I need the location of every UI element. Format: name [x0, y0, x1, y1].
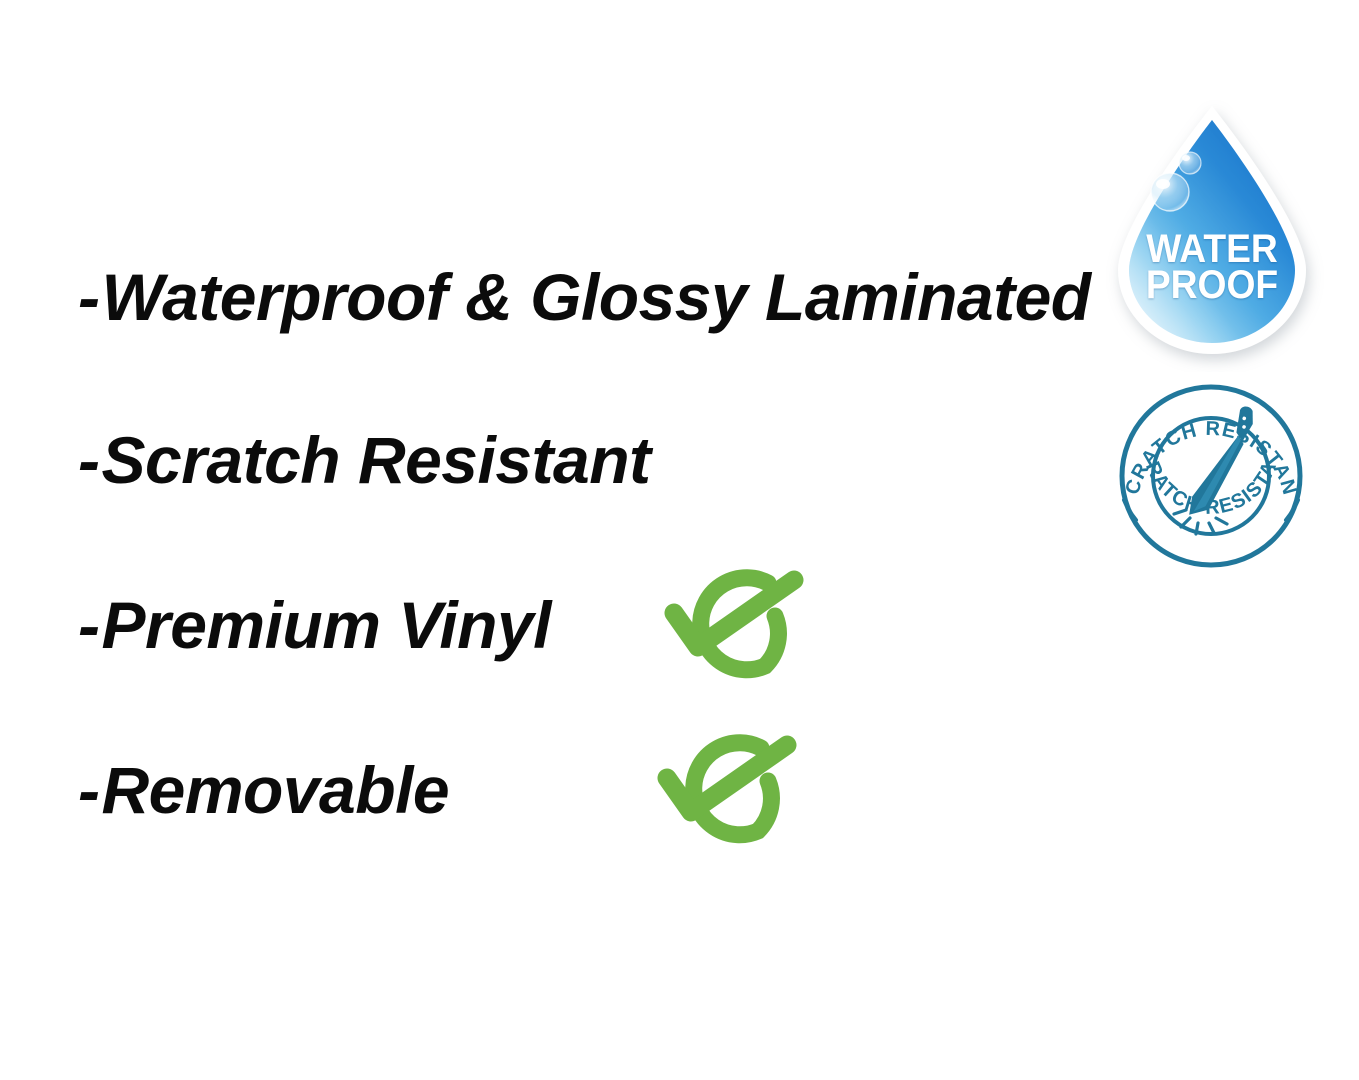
bullet-dash: -: [78, 264, 99, 330]
feature-label: Scratch Resistant: [101, 423, 650, 497]
bullet-dash: -: [78, 592, 99, 658]
waterproof-droplet-badge: WATER PROOF: [1098, 100, 1326, 372]
feature-label: Removable: [101, 753, 449, 827]
scratch-resistant-seal-badge: SCRATCH RESISTANT SCRATCH RESISTANT: [1110, 382, 1312, 570]
green-check-circle-icon: [638, 721, 828, 871]
feature-list: -Waterproof & Glossy Laminated -Scratch …: [0, 0, 1100, 1080]
feature-label: Waterproof & Glossy Laminated: [101, 260, 1090, 334]
bubble-large-icon: [1151, 173, 1189, 211]
bubble-small-icon: [1179, 152, 1201, 174]
feature-item-waterproof-glossy-laminated: -Waterproof & Glossy Laminated: [78, 264, 1091, 330]
bullet-dash: -: [78, 757, 99, 823]
green-check-circle-icon: [645, 556, 835, 706]
feature-item-scratch-resistant: -Scratch Resistant: [78, 427, 651, 493]
feature-label: Premium Vinyl: [101, 588, 551, 662]
feature-item-removable: -Removable: [78, 757, 449, 823]
bullet-dash: -: [78, 427, 99, 493]
feature-highlight-graphic: -Waterproof & Glossy Laminated -Scratch …: [0, 0, 1359, 1080]
feature-item-premium-vinyl: -Premium Vinyl: [78, 592, 551, 658]
